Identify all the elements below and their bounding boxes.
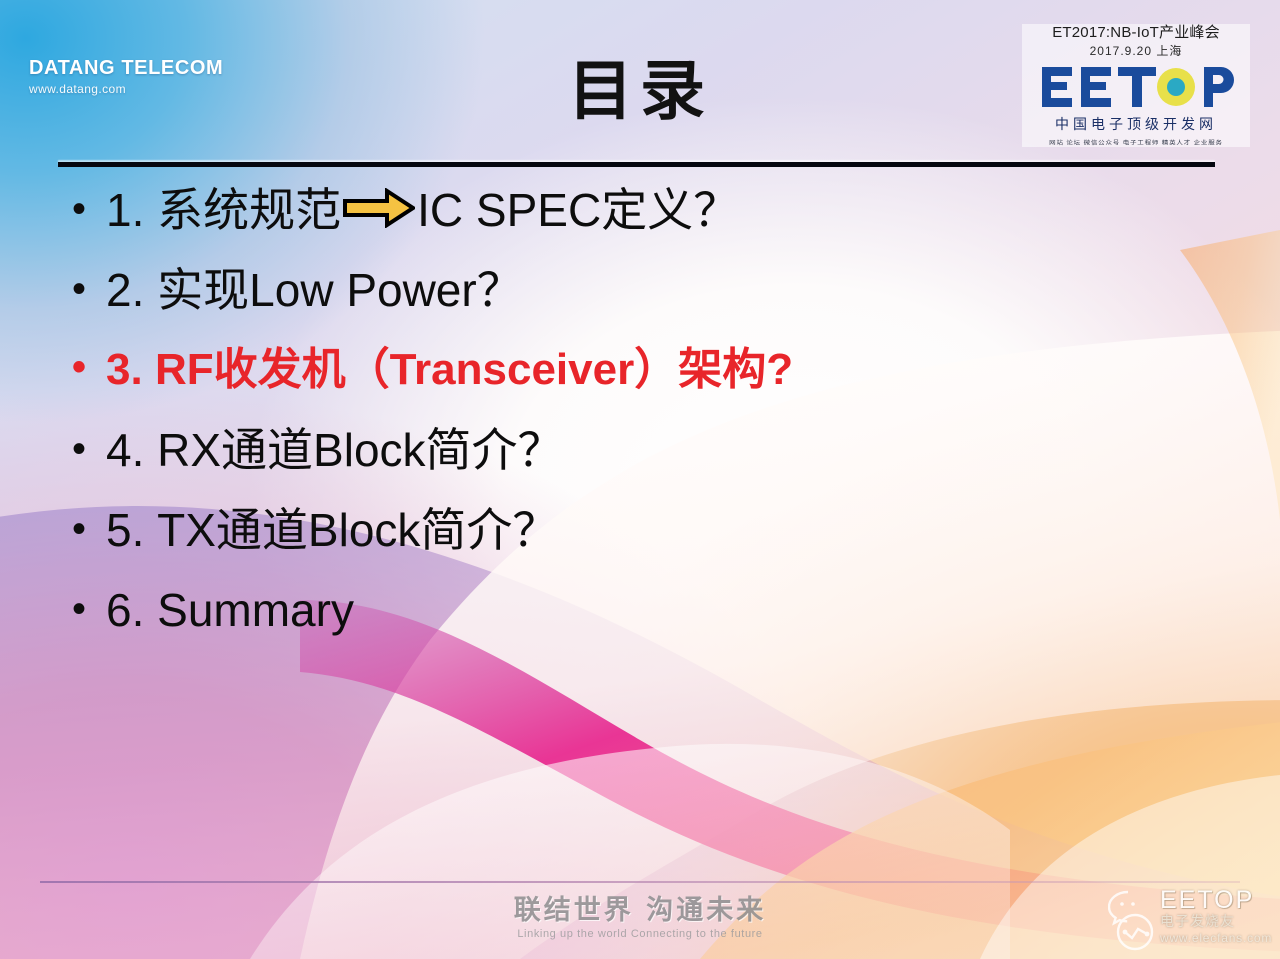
eetop-tagline: 网站 论坛 微信公众号 电子工程师 精英人才 企业服务 <box>1022 138 1250 147</box>
footer-divider <box>40 881 1240 883</box>
slogan-chinese: 联结世界 沟通未来 <box>0 888 1280 927</box>
right-arrow-icon <box>343 188 415 238</box>
toc-item-1[interactable]: • 1. 系统规范IC SPEC定义？ <box>72 186 1212 266</box>
toc-item-text: 系统规范 <box>157 184 341 236</box>
toc-item-number: 1. <box>106 184 144 236</box>
toc-item-text: 实现Low Power？ <box>157 264 523 316</box>
conference-title: ET2017:NB-IoT产业峰会 <box>1022 24 1250 41</box>
title-divider <box>58 162 1215 167</box>
bullet-icon: • <box>72 509 106 549</box>
toc-item-3[interactable]: • 3. RF收发机（Transceiver）架构? <box>72 346 1212 426</box>
toc-item-text-after: IC SPEC定义？ <box>417 184 739 236</box>
toc-item-4[interactable]: • 4. RX通道Block简介？ <box>72 426 1212 506</box>
bullet-icon: • <box>72 589 106 629</box>
wechat-icon <box>1108 886 1168 954</box>
toc-item-text: RX通道Block简介？ <box>157 424 563 476</box>
bullet-icon: • <box>72 429 106 469</box>
eetop-logo-icon <box>1022 61 1250 113</box>
eetop-chinese-name: 中国电子顶级开发网 <box>1022 114 1250 134</box>
elecfans-watermark: EETOP 电子发烧友 www.elecfans.com <box>1108 884 1280 959</box>
toc-item-number: 3. <box>106 345 143 394</box>
toc-item-text: Summary <box>157 584 354 636</box>
toc-item-label: 1. 系统规范IC SPEC定义？ <box>106 186 1212 238</box>
toc-item-number: 4. <box>106 424 144 476</box>
toc-item-text: TX通道Block简介？ <box>157 504 558 556</box>
bullet-icon: • <box>72 347 106 387</box>
conference-badge: ET2017:NB-IoT产业峰会 2017.9.20 上海 <box>1022 24 1250 147</box>
toc-item-6[interactable]: • 6. Summary <box>72 586 1212 666</box>
slogan-english: Linking up the world Connecting to the f… <box>0 928 1280 940</box>
toc-item-label: 6. Summary <box>106 586 1212 636</box>
toc-item-label: 5. TX通道Block简介？ <box>106 506 1212 556</box>
toc-item-5[interactable]: • 5. TX通道Block简介？ <box>72 506 1212 586</box>
bullet-icon: • <box>72 269 106 309</box>
toc-item-label: 2. 实现Low Power？ <box>106 266 1212 316</box>
watermark-text: EETOP 电子发烧友 www.elecfans.com <box>1160 888 1272 944</box>
toc-item-number: 6. <box>106 584 144 636</box>
watermark-url: www.elecfans.com <box>1160 932 1272 944</box>
watermark-chinese: 电子发烧友 <box>1160 915 1272 929</box>
toc-item-label: 3. RF收发机（Transceiver）架构? <box>106 346 1212 394</box>
watermark-brand: EETOP <box>1160 888 1272 913</box>
bullet-icon: • <box>72 189 106 229</box>
toc-item-text: RF收发机（Transceiver）架构? <box>155 345 793 394</box>
presentation-slide: DATANG TELECOM www.datang.com 目录 ET2017:… <box>0 0 1280 959</box>
footer-slogan: 联结世界 沟通未来 Linking up the world Connectin… <box>0 888 1280 940</box>
toc-item-2[interactable]: • 2. 实现Low Power？ <box>72 266 1212 346</box>
toc-item-label: 4. RX通道Block简介？ <box>106 426 1212 476</box>
toc-item-number: 5. <box>106 504 144 556</box>
table-of-contents: • 1. 系统规范IC SPEC定义？ • 2. 实现Low Power？ • … <box>72 186 1212 666</box>
conference-date-location: 2017.9.20 上海 <box>1022 42 1250 59</box>
toc-item-number: 2. <box>106 264 144 316</box>
